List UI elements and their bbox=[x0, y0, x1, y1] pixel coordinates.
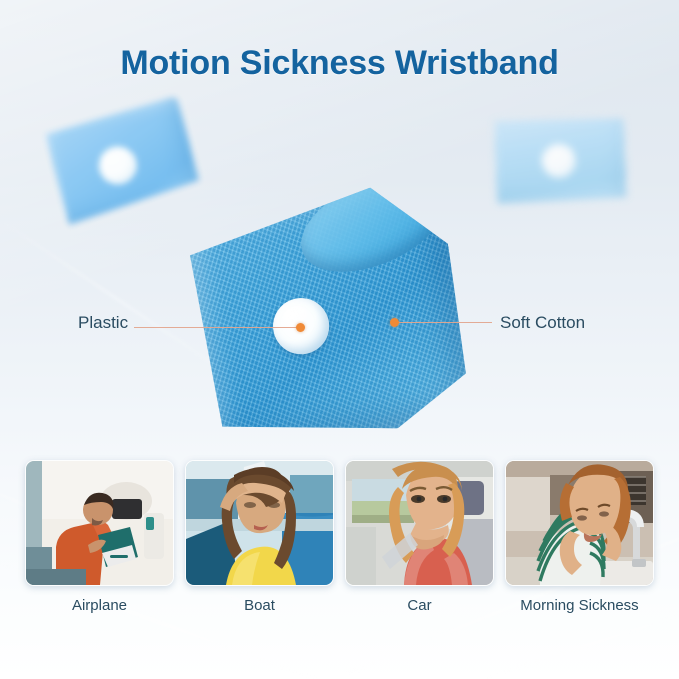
use-case-item: Airplane bbox=[26, 460, 173, 614]
use-case-photo-car bbox=[345, 460, 494, 586]
product-infographic: Motion Sickness Wristband Plastic Soft C… bbox=[0, 0, 679, 679]
page-title: Motion Sickness Wristband bbox=[0, 44, 679, 83]
use-case-photo-airplane bbox=[25, 460, 174, 586]
use-case-caption: Morning Sickness bbox=[520, 597, 638, 614]
callout-marker-dot-plastic bbox=[296, 323, 305, 332]
stud-highlight bbox=[282, 305, 308, 325]
wristband-opening-rim bbox=[287, 156, 459, 291]
use-case-caption: Boat bbox=[244, 597, 275, 614]
use-case-strip: Airplane bbox=[0, 460, 679, 614]
use-case-item: Morning Sickness bbox=[506, 460, 653, 614]
use-case-caption: Airplane bbox=[72, 597, 127, 614]
use-case-photo-morning-sickness bbox=[505, 460, 654, 586]
background-light-streak bbox=[427, 604, 679, 679]
use-case-item: Car bbox=[346, 460, 493, 614]
callout-marker-dot-soft-cotton bbox=[390, 318, 399, 327]
wristband-secondary-right bbox=[483, 103, 635, 217]
callout-leader-line-plastic bbox=[134, 327, 300, 328]
use-case-photo-boat bbox=[185, 460, 334, 586]
callout-label-plastic: Plastic bbox=[78, 313, 128, 333]
callout-label-soft-cotton: Soft Cotton bbox=[500, 313, 585, 333]
wristband-secondary-left bbox=[37, 95, 203, 227]
callout-leader-line-soft-cotton bbox=[396, 322, 492, 323]
use-case-caption: Car bbox=[407, 597, 431, 614]
wristband-main-product bbox=[179, 177, 476, 457]
use-case-item: Boat bbox=[186, 460, 333, 614]
